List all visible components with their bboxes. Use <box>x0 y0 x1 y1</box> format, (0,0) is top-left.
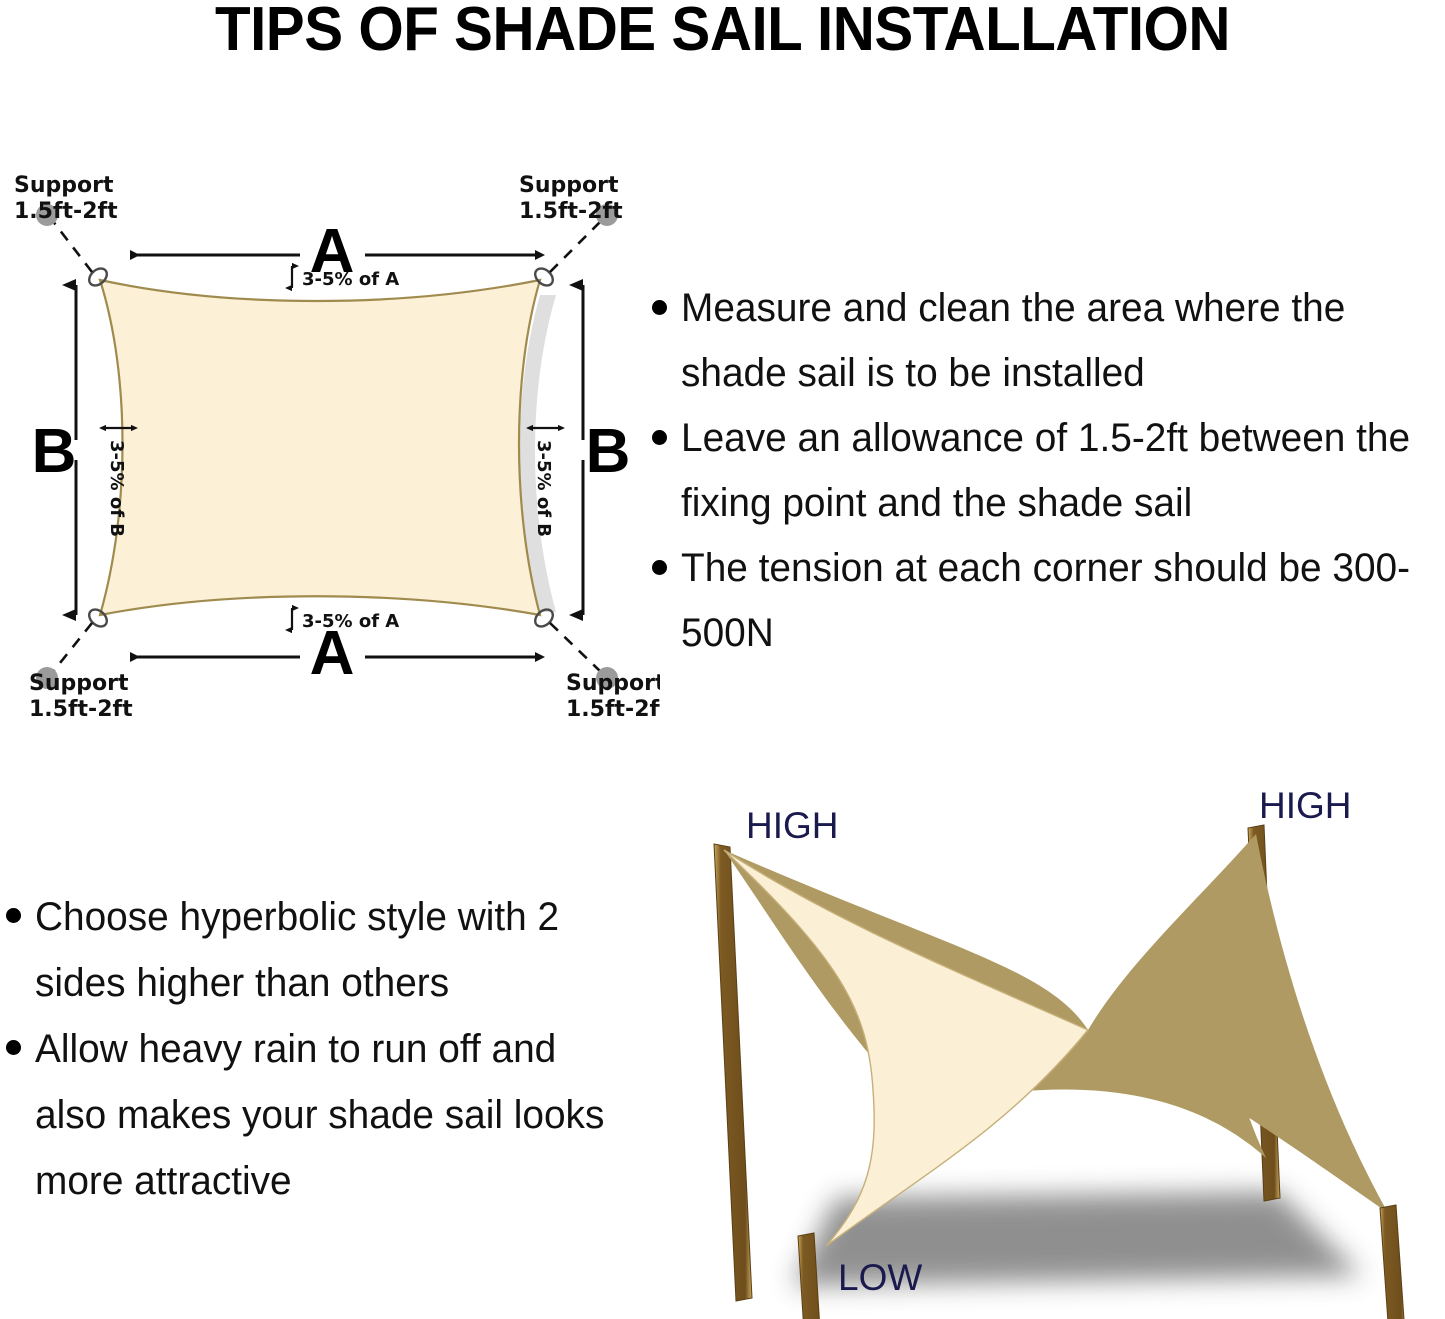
support-label-bottom-left-line2: 1.5ft-2ft <box>29 697 133 722</box>
bullet-dot-icon <box>652 300 667 315</box>
tether-bottom-left <box>52 623 92 673</box>
list-item-label: Choose hyperbolic style with 2 sides hig… <box>35 884 608 1016</box>
sag-label-a-top: 3-5% of A <box>302 269 399 290</box>
list-item-label: Allow heavy rain to run off and also mak… <box>35 1016 608 1214</box>
dim-label-b-right: B <box>586 417 631 486</box>
list-item: Choose hyperbolic style with 2 sides hig… <box>6 884 626 1016</box>
bullet-dot-icon <box>6 908 21 923</box>
sag-label-a-bottom: 3-5% of A <box>302 611 399 632</box>
list-item: Measure and clean the area where the sha… <box>652 276 1445 406</box>
sail-shape <box>100 280 540 615</box>
sag-label-b-left: 3-5% of B <box>106 440 127 537</box>
sail-surface-rear-right <box>1088 834 1388 1213</box>
page-title: TIPS OF SHADE SAIL INSTALLATION <box>43 0 1401 65</box>
post-high-left <box>714 844 752 1301</box>
support-label-bottom-right-line2: 1.5ft-2ft <box>566 697 660 722</box>
list-item: Leave an allowance of 1.5-2ft between th… <box>652 406 1445 536</box>
tether-top-right <box>550 220 602 272</box>
post-low-right <box>1380 1205 1406 1319</box>
list-item: The tension at each corner should be 300… <box>652 536 1445 666</box>
label-low-left: LOW <box>838 1257 922 1298</box>
support-label-bottom-left-line1: Support <box>29 671 129 696</box>
dim-label-b-left: B <box>32 417 77 486</box>
installation-tips-list: Measure and clean the area where the sha… <box>652 276 1445 666</box>
tether-bottom-right <box>550 623 602 673</box>
label-high-left: HIGH <box>746 805 839 846</box>
list-item-label: The tension at each corner should be 300… <box>681 536 1429 666</box>
hyperbolic-tips-list: Choose hyperbolic style with 2 sides hig… <box>6 884 626 1214</box>
bullet-dot-icon <box>6 1040 21 1055</box>
hyperbolic-sail-diagram: HIGH HIGH LOW LOW <box>618 778 1445 1319</box>
support-label-top-right-line1: Support <box>519 173 619 198</box>
list-item: Allow heavy rain to run off and also mak… <box>6 1016 626 1214</box>
rectangular-sail-diagram: A A B B 3-5% of A 3-5% of A 3-5% of B 3-… <box>0 160 660 740</box>
list-item-label: Measure and clean the area where the sha… <box>681 276 1429 406</box>
tether-top-left <box>52 220 92 272</box>
support-label-top-left-line2: 1.5ft-2ft <box>14 199 118 224</box>
bullet-dot-icon <box>652 560 667 575</box>
label-high-right: HIGH <box>1259 785 1352 826</box>
bullet-dot-icon <box>652 430 667 445</box>
support-label-bottom-right-line1: Support <box>566 671 660 696</box>
support-label-top-right-line2: 1.5ft-2ft <box>519 199 623 224</box>
sag-label-b-right: 3-5% of B <box>533 440 554 537</box>
support-label-top-left-line1: Support <box>14 173 114 198</box>
list-item-label: Leave an allowance of 1.5-2ft between th… <box>681 406 1429 536</box>
